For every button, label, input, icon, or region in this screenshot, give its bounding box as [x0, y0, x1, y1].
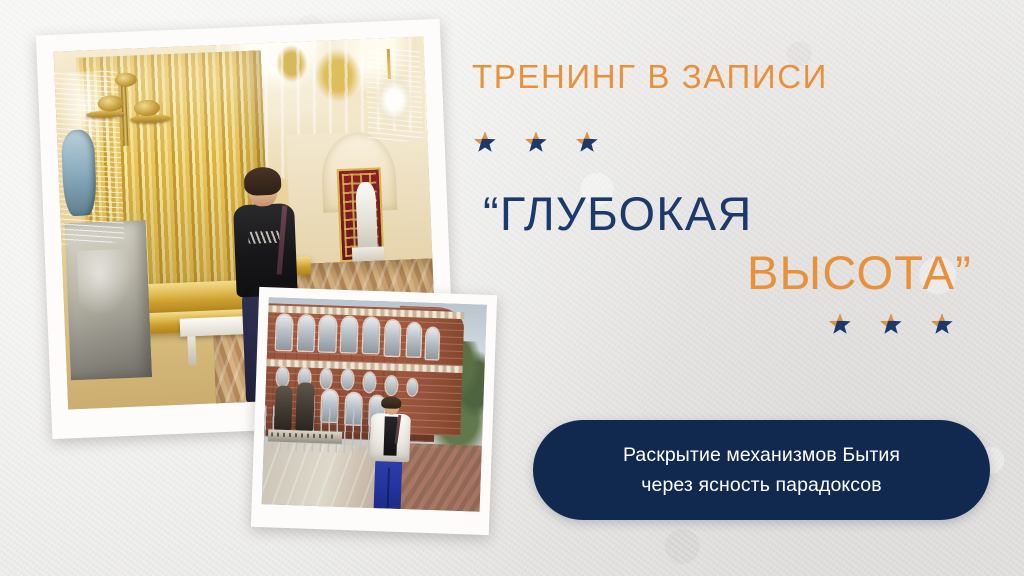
slide-canvas: ТРЕНИНГ В ЗАПИСИ “ГЛУБОКАЯ ВЫСОТА”	[0, 0, 1024, 576]
eyebrow-heading: ТРЕНИНГ В ЗАПИСИ	[472, 58, 828, 96]
arched-window	[276, 314, 292, 350]
manor-scene	[262, 297, 487, 511]
arched-window	[385, 320, 400, 356]
subtitle-line-1: Раскрытие механизмов Бытия	[623, 444, 900, 467]
star-icon	[472, 130, 498, 156]
star-row-top	[472, 130, 600, 156]
bench-leg	[187, 336, 196, 365]
arched-window	[319, 316, 335, 352]
star-icon	[878, 312, 904, 338]
tshirt-print	[248, 231, 280, 244]
woman-blue-trousers	[374, 458, 403, 509]
subtitle-pill: Раскрытие механизмов Бытия через ясность…	[533, 420, 990, 520]
bronze-figure	[275, 386, 293, 430]
arched-window	[406, 323, 420, 357]
arched-window	[426, 328, 439, 359]
star-icon	[929, 312, 955, 338]
woman-hair	[381, 396, 401, 409]
title-line-2: ВЫСОТА”	[747, 245, 972, 300]
arched-window	[341, 316, 357, 352]
woman-black-tshirt	[233, 203, 297, 297]
gilt-candelabra	[76, 65, 180, 176]
candelabra-bowl	[98, 95, 125, 112]
bronze-figure	[295, 382, 314, 430]
woman-hair	[244, 167, 282, 196]
candelabra-arm	[130, 114, 170, 123]
star-icon	[827, 312, 853, 338]
arched-window	[298, 315, 314, 351]
star-icon	[523, 130, 549, 156]
candelabra-bowl	[115, 73, 138, 88]
star-row-bottom	[827, 312, 955, 338]
woman-at-manor	[366, 398, 413, 509]
marble-statue	[355, 182, 378, 251]
subtitle-line-2: через ясность парадоксов	[641, 474, 881, 497]
bronze-statue-group	[268, 380, 345, 453]
manor-photo-image	[262, 297, 487, 511]
brick-manor-photo	[251, 287, 497, 535]
arched-window	[363, 317, 379, 353]
crystal-chandelier	[365, 47, 424, 142]
title-line-1: “ГЛУБОКАЯ	[483, 186, 753, 241]
star-icon	[574, 130, 600, 156]
